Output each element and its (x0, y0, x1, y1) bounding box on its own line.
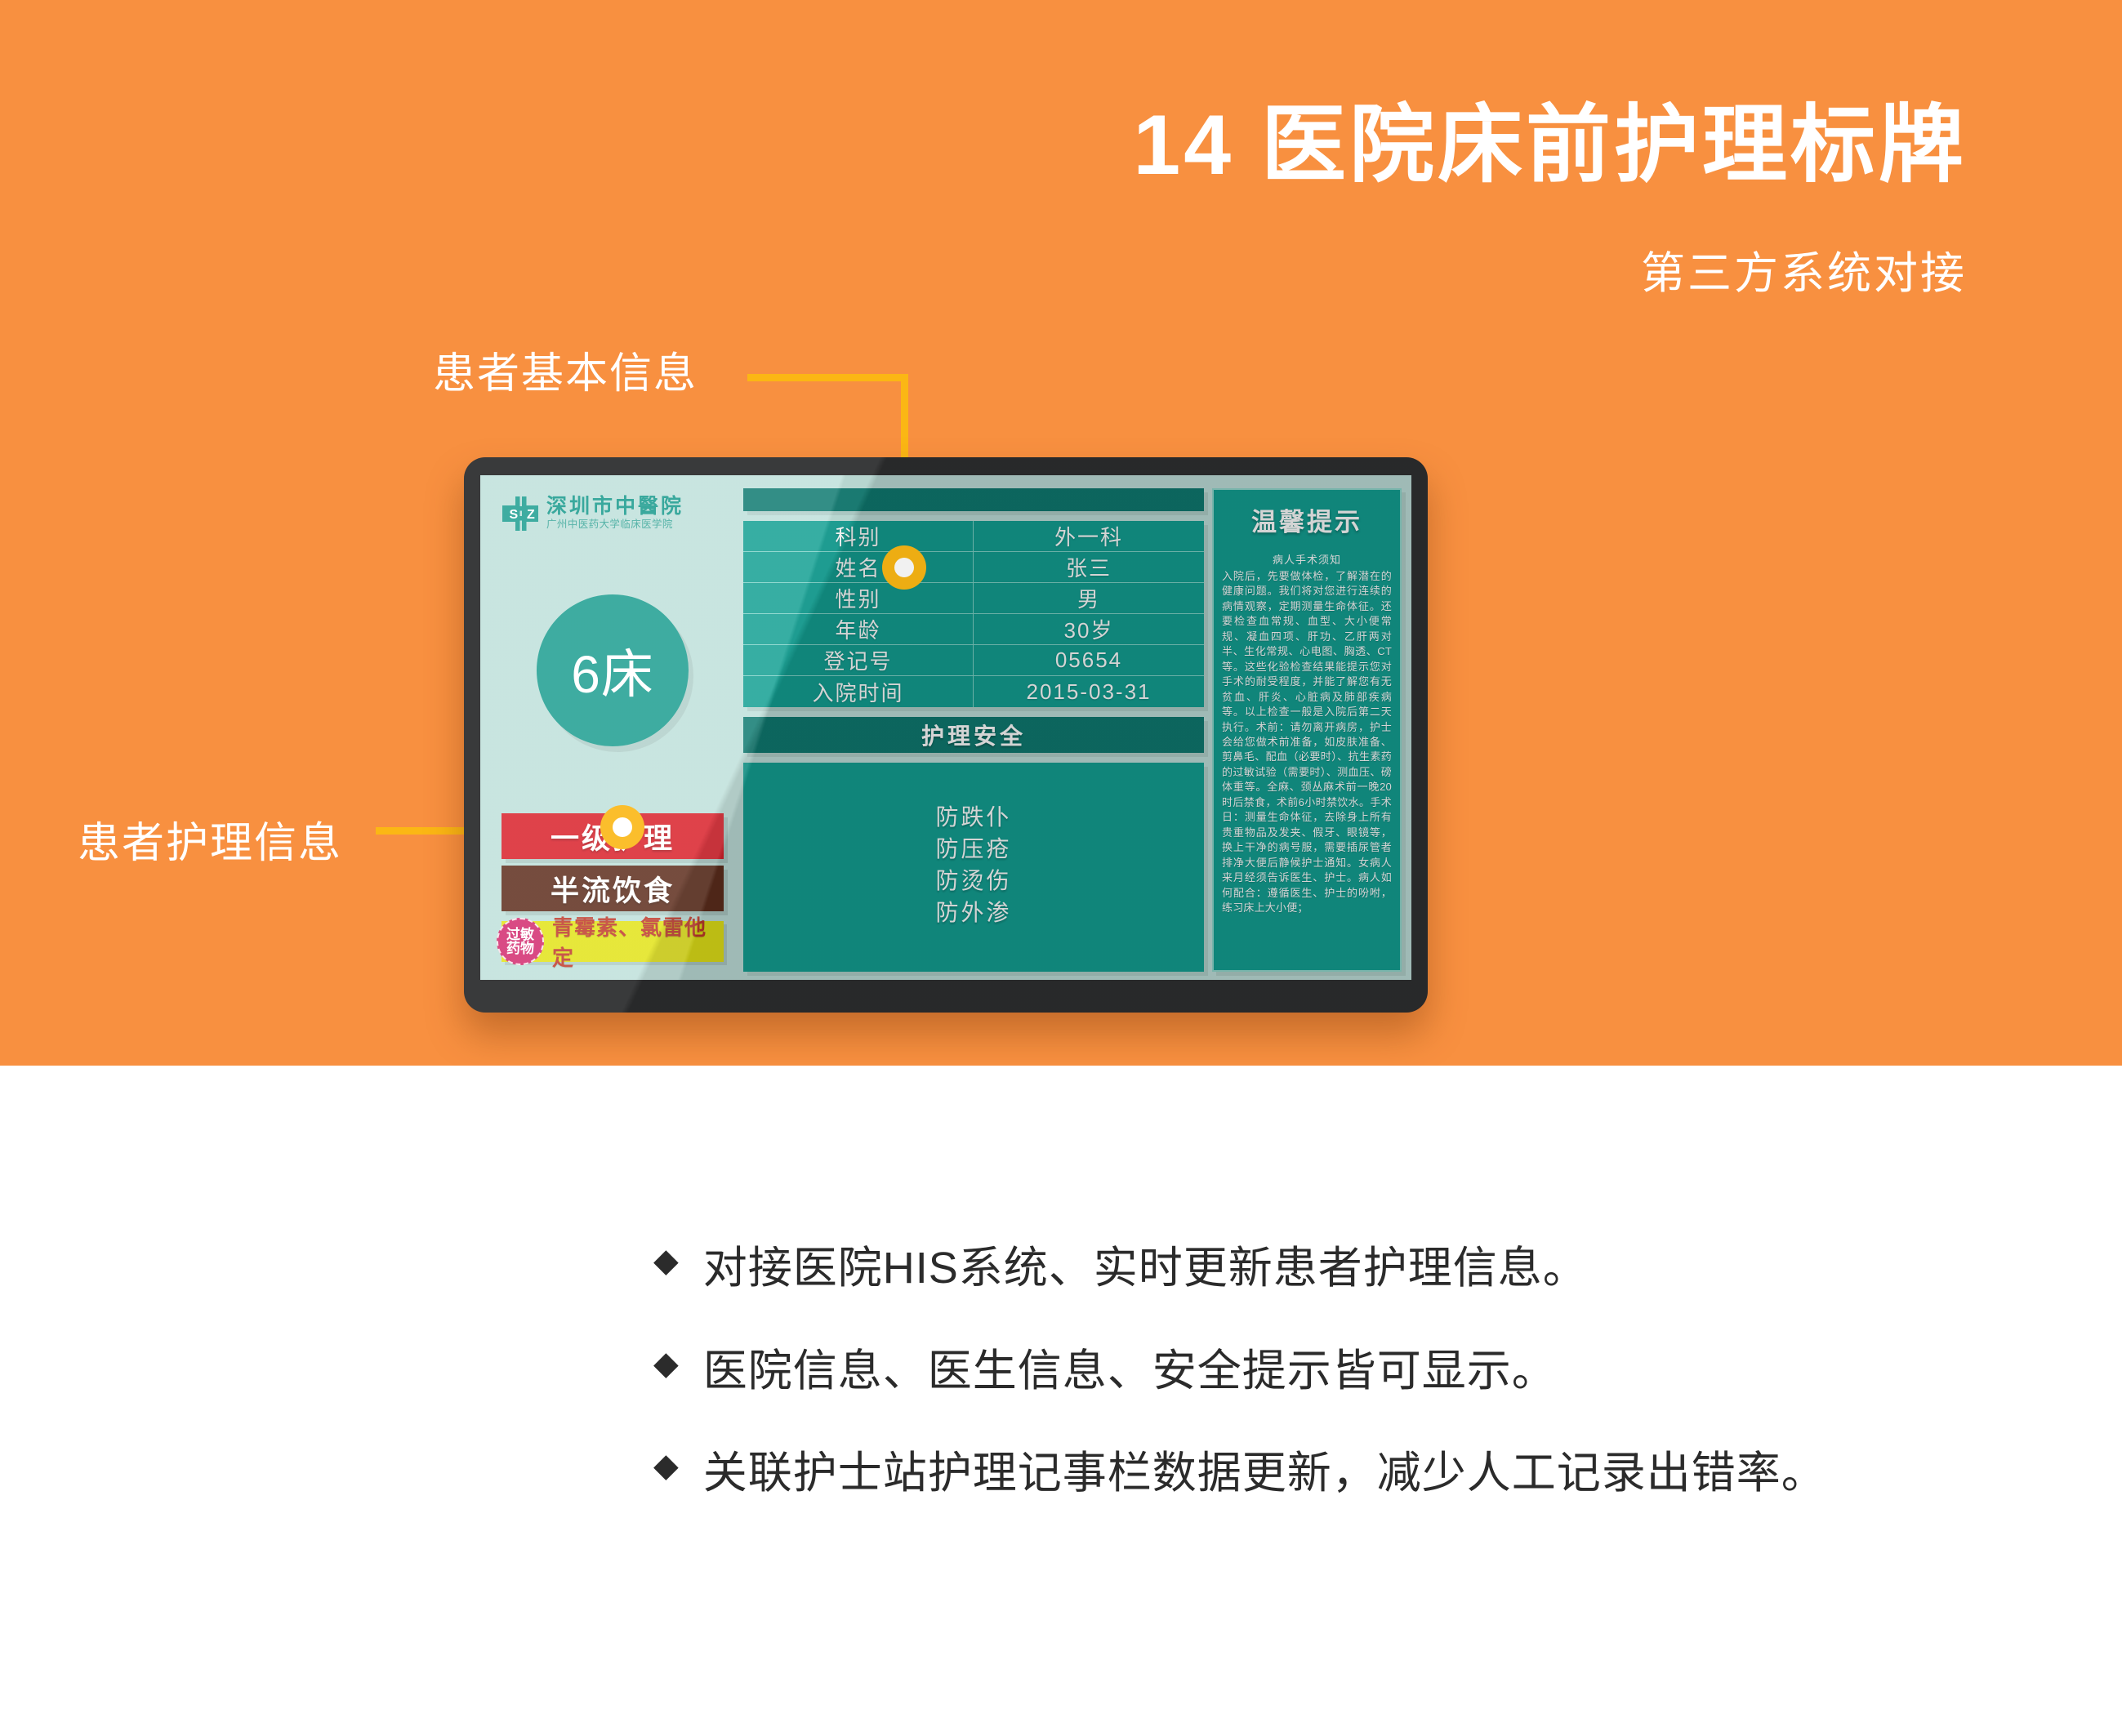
info-key: 性别 (743, 583, 974, 613)
diamond-bullet-icon: ◆ (653, 1446, 679, 1485)
screen-middle-column: 科别 外一科 姓名 张三 性别 男 年龄 30岁 (743, 485, 1204, 972)
svg-text:Z: Z (527, 508, 535, 522)
slide-page: 14 医院床前护理标牌 第三方系统对接 患者基本信息 患者护理信息 (0, 0, 2122, 1736)
feature-text: 对接医院HIS系统、实时更新患者护理信息。 (703, 1241, 1588, 1297)
allergy-bar: 过敏 药物 青霉素、氯雷他定 (502, 921, 724, 962)
patient-info-panel-cap (743, 488, 1204, 511)
list-item: 防压疮 (935, 835, 1011, 865)
table-row: 年龄 30岁 (743, 614, 1204, 645)
info-key: 年龄 (743, 614, 974, 644)
allergy-badge-line2: 药物 (506, 941, 534, 955)
hero-band: 14 医院床前护理标牌 第三方系统对接 患者基本信息 患者护理信息 (0, 0, 2122, 1066)
hospital-affiliation: 广州中医药大学临床医学院 (546, 518, 684, 532)
callout-dot-patient-care-info (600, 805, 644, 849)
screen-left-column: S Z 深圳市中醫院 广州中医药大学临床医学院 6床 一级护理 半流饮 (490, 485, 735, 972)
nursing-safety-list: 防跌仆 防压疮 防烫伤 防外渗 (743, 763, 1204, 972)
svg-text:S: S (510, 508, 519, 522)
info-value: 男 (974, 583, 1204, 613)
nursing-safety-panel-cap: 护理安全 (743, 717, 1204, 753)
info-value: 外一科 (974, 521, 1204, 551)
list-item: ◆ 医院信息、医生信息、安全提示皆可显示。 (0, 1344, 2122, 1400)
list-item: 防外渗 (935, 898, 1011, 928)
tablet-device-frame: S Z 深圳市中醫院 广州中医药大学临床医学院 6床 一级护理 半流饮 (464, 457, 1428, 1013)
info-value: 张三 (974, 552, 1204, 582)
patient-info-table: 科别 外一科 姓名 张三 性别 男 年龄 30岁 (743, 521, 1204, 707)
feature-text: 关联护士站护理记事栏数据更新，减少人工记录出错率。 (703, 1446, 1826, 1502)
info-value: 2015-03-31 (974, 676, 1204, 707)
hospital-name-block: 深圳市中醫院 广州中医药大学临床医学院 (546, 496, 684, 531)
tips-title: 温馨提示 (1222, 501, 1392, 545)
device-screen: S Z 深圳市中醫院 广州中医药大学临床医学院 6床 一级护理 半流饮 (480, 475, 1411, 980)
diet-tag: 半流饮食 (502, 866, 724, 911)
nursing-safety-title: 护理安全 (921, 719, 1026, 751)
feature-list: ◆ 对接医院HIS系统、实时更新患者护理信息。 ◆ 医院信息、医生信息、安全提示… (0, 1241, 2122, 1549)
callout-dot-patient-basic-info (882, 545, 926, 590)
list-item: 防烫伤 (935, 866, 1011, 897)
screen-right-column: 温馨提示 病人手术须知 入院后，先要做体检，了解潜在的健康问题。我们将对您进行连… (1212, 485, 1402, 972)
diamond-bullet-icon: ◆ (653, 1241, 679, 1280)
callout-label-patient-care-info: 患者护理信息 (78, 808, 342, 870)
table-row: 登记号 05654 (743, 645, 1204, 676)
hospital-cross-sz-logo-icon: S Z (502, 495, 539, 532)
tips-subtitle: 病人手术须知 (1222, 551, 1392, 567)
list-item: 防跌仆 (935, 803, 1011, 833)
page-subtitle: 第三方系统对接 (1641, 237, 1967, 301)
bed-number-container: 6床 (490, 532, 735, 813)
callout-connector-basic-horizontal (747, 374, 908, 381)
page-title: 14 医院床前护理标牌 (1133, 98, 1967, 193)
info-value: 30岁 (974, 614, 1204, 644)
tips-panel: 温馨提示 病人手术须知 入院后，先要做体检，了解潜在的健康问题。我们将对您进行连… (1212, 488, 1402, 972)
allergy-drug-list: 青霉素、氯雷他定 (552, 911, 724, 972)
table-row: 性别 男 (743, 583, 1204, 614)
callout-label-patient-basic-info: 患者基本信息 (433, 339, 698, 400)
allergy-badge-line1: 过敏 (506, 928, 534, 941)
diamond-bullet-icon: ◆ (653, 1344, 679, 1383)
info-key: 科别 (743, 521, 974, 551)
table-row: 入院时间 2015-03-31 (743, 676, 1204, 707)
hospital-branding: S Z 深圳市中醫院 广州中医药大学临床医学院 (490, 485, 735, 532)
info-value: 05654 (974, 645, 1204, 675)
feature-text: 医院信息、医生信息、安全提示皆可显示。 (703, 1344, 1557, 1400)
hospital-name: 深圳市中醫院 (546, 496, 684, 517)
bed-number-badge: 6床 (537, 594, 689, 746)
list-item: ◆ 关联护士站护理记事栏数据更新，减少人工记录出错率。 (0, 1446, 2122, 1502)
info-key: 入院时间 (743, 676, 974, 707)
tips-body-text: 入院后，先要做体检，了解潜在的健康问题。我们将对您进行连续的病情观察，定期测量生… (1222, 569, 1392, 915)
list-item: ◆ 对接医院HIS系统、实时更新患者护理信息。 (0, 1241, 2122, 1297)
table-row: 姓名 张三 (743, 552, 1204, 583)
info-key: 登记号 (743, 645, 974, 675)
table-row: 科别 外一科 (743, 521, 1204, 552)
allergy-badge-icon: 过敏 药物 (497, 918, 544, 965)
info-key: 姓名 (743, 552, 974, 582)
